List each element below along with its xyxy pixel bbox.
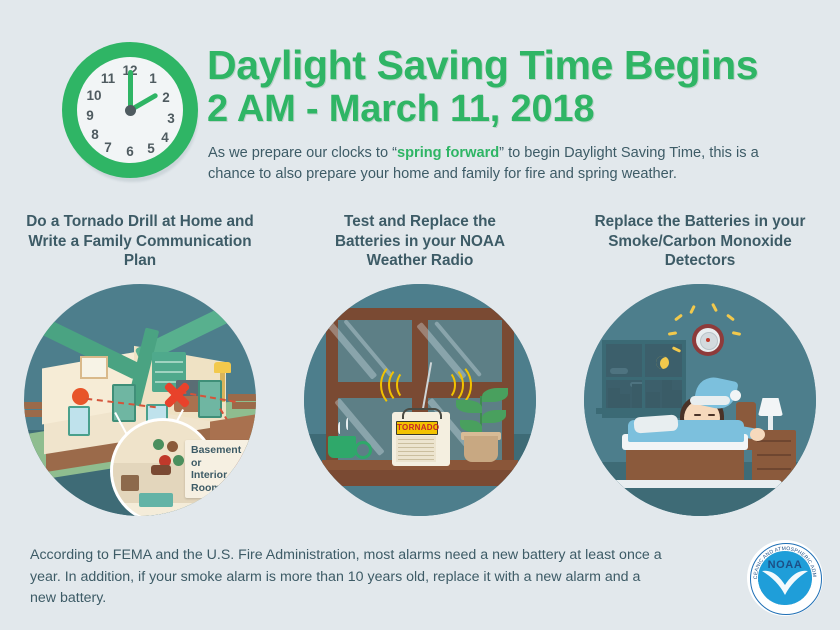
steam-1 [338, 422, 342, 434]
clock-face: 12 1 2 3 4 5 6 7 8 9 10 11 [77, 57, 183, 163]
callout-person-1 [153, 439, 164, 450]
footer-note: According to FEMA and the U.S. Fire Admi… [30, 545, 670, 610]
noaa-weather-radio: TORNADO [392, 408, 450, 466]
illustration-weather-radio: TORNADO [304, 284, 536, 516]
meeting-point-x-icon [164, 382, 190, 408]
header: 12 1 2 3 4 5 6 7 8 9 10 11 Daylight Savi… [0, 0, 840, 200]
moon-icon [656, 356, 669, 369]
radio-alert-display: TORNADO [396, 421, 438, 435]
tip-column-smoke-detectors: Replace the Batteries in your Smoke/Carb… [560, 212, 840, 271]
tip-heading-tornado-drill: Do a Tornado Drill at Home and Write a F… [0, 212, 280, 271]
title-line-2: 2 AM - March 11, 2018 [207, 89, 827, 129]
infographic-page: 12 1 2 3 4 5 6 7 8 9 10 11 Daylight Savi… [0, 0, 840, 630]
person-hand-right [750, 428, 765, 441]
illustration-cutaway-house: Basement or Interior Room [24, 284, 256, 516]
clock-numeral-11: 11 [99, 70, 117, 88]
start-point-marker [72, 388, 89, 405]
nightcap-pompom [730, 390, 741, 401]
wall-clock: 12 1 2 3 4 5 6 7 8 9 10 11 [62, 42, 198, 178]
clock-numeral-8: 8 [86, 126, 104, 144]
clock-numeral-2: 2 [157, 89, 175, 107]
page-title: Daylight Saving Time Begins 2 AM - March… [207, 44, 827, 129]
tip-column-tornado-drill: Do a Tornado Drill at Home and Write a F… [0, 212, 280, 271]
seal-center-text: NOAA [758, 559, 812, 571]
basement-callout-label: Basement or Interior Room [185, 440, 256, 498]
radio-handle [402, 408, 442, 419]
clock-numeral-5: 5 [142, 140, 160, 158]
noaa-seal: NATIONAL OCEANIC AND ATMOSPHERIC ADMINIS… [747, 540, 823, 616]
person-eye-right [708, 414, 715, 416]
callout-crate [121, 475, 139, 491]
plant-pot [464, 436, 498, 462]
wall-picture [80, 356, 108, 379]
floor-lamp-shade [214, 362, 231, 373]
clock-numeral-6: 6 [121, 143, 139, 161]
nightcap-brim [690, 396, 730, 405]
window-sill [312, 470, 528, 486]
bedroom-window [602, 340, 686, 418]
callout-table [139, 493, 173, 507]
clock-numeral-10: 10 [85, 87, 103, 105]
illustration-smoke-detector-bedroom [584, 284, 816, 516]
tips-section: Do a Tornado Drill at Home and Write a F… [0, 212, 840, 522]
floor-rug [612, 480, 782, 488]
clock-pivot [125, 105, 136, 116]
steam-2 [346, 418, 350, 430]
pillow [633, 414, 678, 433]
smoke-detector-icon [692, 324, 724, 356]
coffee-mug [328, 436, 356, 458]
clock-numeral-3: 3 [162, 110, 180, 128]
tip-column-weather-radio: Test and Replace the Batteries in your N… [280, 212, 560, 271]
house-window-left [68, 406, 90, 436]
person-eye-left [694, 414, 701, 416]
bedroom-window-sill [596, 408, 684, 414]
clock-numeral-9: 9 [81, 107, 99, 125]
coffee-mug-handle [354, 441, 372, 459]
cloud-1 [610, 368, 628, 374]
window-mullion-horizontal [606, 377, 682, 380]
callout-person-2 [167, 441, 178, 452]
fence-right-2 [232, 402, 256, 409]
subtitle-part-1: As we prepare our clocks to “ [208, 145, 397, 161]
callout-person-4 [173, 455, 184, 466]
seal-disc: NOAA [758, 551, 812, 605]
radio-speaker-grill [396, 436, 436, 462]
tip-heading-weather-radio: Test and Replace the Batteries in your N… [280, 212, 560, 271]
tip-heading-smoke-detectors: Replace the Batteries in your Smoke/Carb… [560, 212, 840, 271]
detector-indicator-light [706, 338, 710, 342]
callout-furniture [151, 465, 171, 475]
clock-numeral-1: 1 [144, 70, 162, 88]
signal-wave-left-3 [380, 362, 418, 408]
subtitle: As we prepare our clocks to “spring forw… [208, 143, 808, 185]
title-line-1: Daylight Saving Time Begins [207, 44, 827, 86]
subtitle-highlight: spring forward [397, 145, 499, 161]
